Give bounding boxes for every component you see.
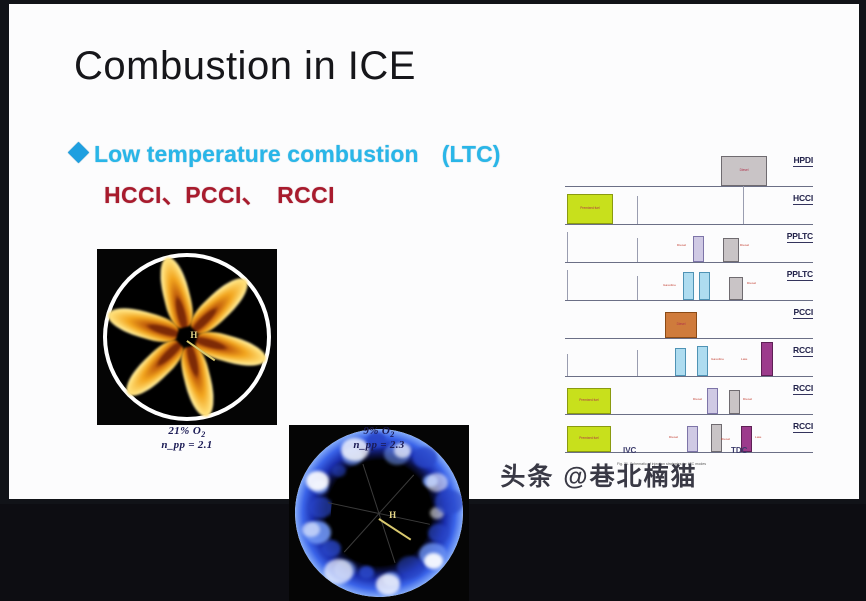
axis-tick [567, 270, 568, 300]
injection-event-block [761, 342, 773, 376]
axis-tick [637, 196, 638, 224]
combustion-mode-label: PCCI [793, 307, 813, 319]
annotation-label: Diesel [747, 281, 756, 285]
flame-blob [321, 540, 341, 557]
annotation-label: Diesel [669, 435, 678, 439]
axis-tick [637, 276, 638, 300]
bullet-text: Low temperature combustion (LTC) [94, 135, 501, 169]
combustion-mode-label: RCCI [793, 345, 813, 357]
axis-tick [743, 186, 744, 224]
timing-row: Premixed fuelDieselDieselLateRCCI [565, 412, 813, 453]
crank-angle-axis [565, 452, 813, 454]
combustion-mode-label: PPLTC [787, 231, 813, 243]
combustion-bowl-orange: H [103, 253, 271, 421]
annotation-label: Diesel [721, 437, 730, 441]
timing-row: GasolineLateRCCI [565, 336, 813, 377]
watermark: 头条 @巷北楠猫 [9, 457, 859, 493]
timing-row: DieselHPDI [565, 146, 813, 187]
caption-oxygen-level: 21% O2 [97, 425, 277, 439]
caption-oxygen-level: 9% O2 [289, 425, 469, 439]
injection-event-block [707, 388, 718, 414]
block-label: Diesel [677, 322, 686, 326]
injection-event-block [687, 426, 698, 452]
flame-blob [435, 490, 463, 515]
injection-event-block [697, 346, 708, 376]
annotation-label: Diesel [743, 397, 752, 401]
flame-blob [376, 574, 400, 594]
timing-row: DieselDieselPPLTC [565, 222, 813, 263]
combustion-mode-label: HPDI [793, 155, 813, 167]
annotation-label: Late [741, 357, 747, 361]
annotation-label: Diesel [677, 243, 686, 247]
injection-event-block [729, 277, 743, 300]
injection-event-block: Premixed fuel [567, 388, 611, 414]
injection-event-block [683, 272, 694, 300]
caption-subscript: 2 [201, 430, 205, 439]
timing-row: GasolineDieselPPLTC [565, 260, 813, 301]
axis-mark-tdc: TDC [731, 446, 747, 455]
annotation-label: Late [755, 435, 761, 439]
axis-tick [637, 350, 638, 376]
diamond-bullet-icon [68, 141, 89, 162]
scale-marker-label: H [389, 510, 396, 520]
caption-secondary: n_pp = 2.3 [289, 439, 469, 452]
bullet-row: Low temperature combustion (LTC) [71, 135, 501, 169]
combustion-mode-label: RCCI [793, 421, 813, 433]
annotation-label: Gasoline [711, 357, 724, 361]
block-label: Diesel [740, 168, 749, 172]
caption-secondary: n_pp = 2.1 [97, 439, 277, 452]
ltc-mode-list: HCCI、PCCI、 RCCI [104, 176, 335, 210]
presentation-slide: Combustion in ICE Low temperature combus… [0, 0, 866, 504]
axis-tick [567, 232, 568, 262]
flame-jet [119, 335, 189, 404]
flame-blob [324, 559, 353, 584]
combustion-mode-label: PPLTC [787, 269, 813, 281]
combustion-mode-label: HCCI [793, 193, 813, 205]
combustion-bowl-blue: H [295, 429, 463, 597]
page-title: Combustion in ICE [74, 44, 416, 89]
injection-event-block [693, 236, 704, 262]
annotation-label: Diesel [693, 397, 702, 401]
injection-event-block: Premixed fuel [567, 194, 613, 224]
annotation-label: Gasoline [663, 283, 676, 287]
injection-event-block [675, 348, 686, 376]
injection-event-block [699, 272, 710, 300]
injection-event-block: Diesel [665, 312, 697, 338]
high-oxygen-combustion-photo: H [97, 249, 277, 425]
axis-tick [637, 238, 638, 262]
injection-event-block [729, 390, 740, 414]
block-label: Premixed fuel [580, 206, 600, 210]
flame-blob [359, 566, 374, 579]
photo-caption-high-oxygen: 21% O2 n_pp = 2.1 [97, 425, 277, 452]
injection-event-block [723, 238, 739, 262]
timing-row: Premixed fuelHCCI [565, 184, 813, 225]
flame-blob [397, 556, 423, 578]
photo-caption-low-oxygen: 9% O2 n_pp = 2.3 [289, 425, 469, 452]
block-label: Premixed fuel [579, 398, 599, 402]
injection-strategy-timing-diagram: DieselHPDIPremixed fuelHCCIDieselDieselP… [565, 146, 865, 476]
timing-row: Premixed fuelDieselDieselRCCI [565, 374, 813, 415]
axis-tick [567, 354, 568, 376]
combustion-mode-label: RCCI [793, 383, 813, 395]
block-label: Premixed fuel [579, 436, 599, 440]
annotation-label: Diesel [740, 243, 749, 247]
flame-jet [185, 271, 255, 340]
injection-event-block: Premixed fuel [567, 426, 611, 452]
caption-subscript: 2 [390, 430, 394, 439]
injection-event-block: Diesel [721, 156, 767, 186]
watermark-text: 头条 @巷北楠猫 [170, 463, 697, 491]
scale-marker-label: H [190, 330, 197, 340]
axis-mark-ivc: IVC [623, 446, 636, 455]
timing-row: DieselPCCI [565, 298, 813, 339]
